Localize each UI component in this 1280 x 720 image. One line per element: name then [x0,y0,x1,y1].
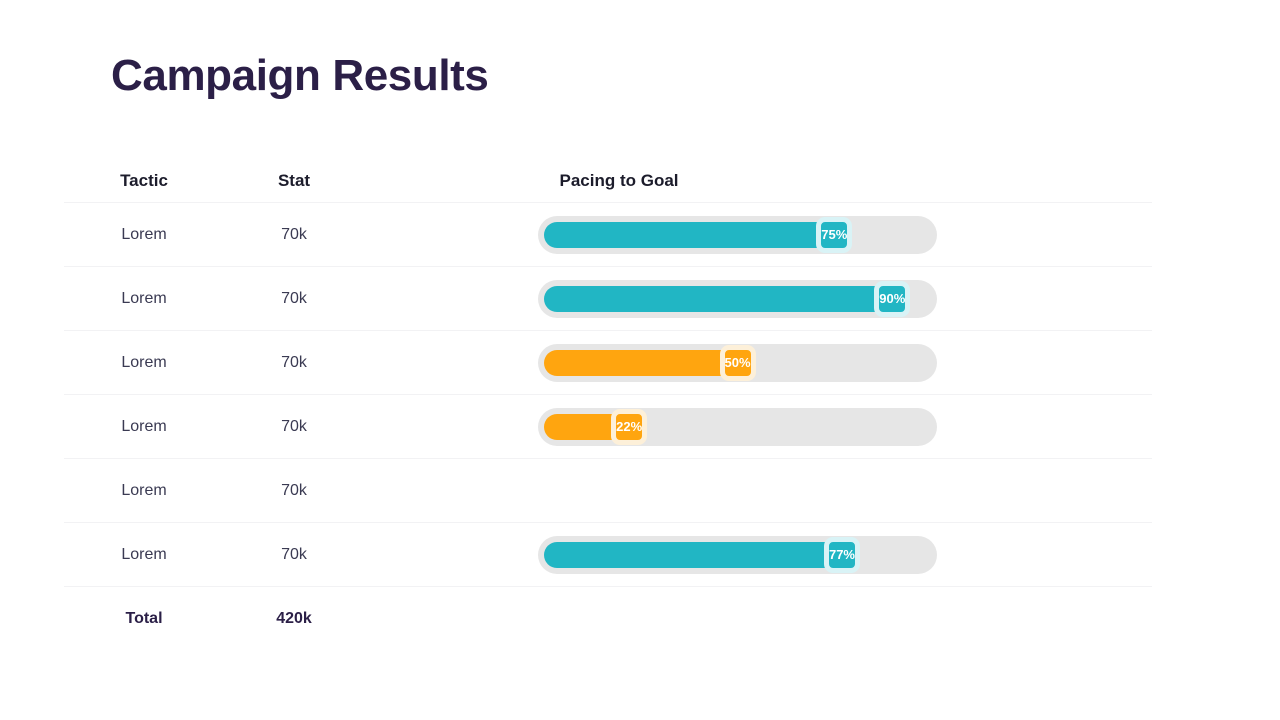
total-label: Total [64,610,224,628]
progress-bar[interactable]: 50% [538,344,937,382]
progress-bar[interactable]: 22% [538,408,937,446]
cell-pacing: 50% [364,331,1152,394]
cell-pacing: 22% [364,395,1152,458]
progress-bar-fill [544,542,842,568]
table-header-row: Tactic Stat Pacing to Goal [64,160,1152,202]
progress-percent-badge: 75% [816,217,852,253]
cell-tactic: Lorem [64,290,224,308]
progress-percent-badge: 50% [720,345,756,381]
table-row: Lorem70k75% [64,202,1152,266]
cell-stat: 70k [224,546,364,564]
page-title: Campaign Results [111,52,488,100]
cell-pacing: 75% [364,203,1152,266]
total-pacing-cell [364,587,1152,650]
progress-percent-badge: 77% [824,537,860,573]
cell-stat: 70k [224,226,364,244]
progress-bar[interactable]: 90% [538,280,937,318]
column-header-tactic: Tactic [64,171,224,191]
progress-percent-badge: 22% [611,409,647,445]
cell-stat: 70k [224,418,364,436]
column-header-pacing-cell: Pacing to Goal [364,160,1152,202]
cell-pacing [364,459,1152,522]
slide-canvas: Campaign Results Tactic Stat Pacing to G… [0,0,1280,720]
table-row: Lorem70k77% [64,522,1152,586]
cell-stat: 70k [224,290,364,308]
progress-percent-badge: 90% [874,281,910,317]
cell-pacing: 77% [364,523,1152,586]
cell-stat: 70k [224,482,364,500]
table-row: Lorem70k50% [64,330,1152,394]
column-header-pacing: Pacing to Goal [219,171,1019,191]
table-row: Lorem70k90% [64,266,1152,330]
cell-pacing: 90% [364,267,1152,330]
cell-tactic: Lorem [64,546,224,564]
cell-stat: 70k [224,354,364,372]
total-stat: 420k [224,610,364,628]
progress-bar-fill [544,350,738,376]
progress-bar[interactable]: 77% [538,536,937,574]
progress-bar-fill [544,286,892,312]
table-total-row: Total 420k [64,586,1152,650]
table-body: Lorem70k75%Lorem70k90%Lorem70k50%Lorem70… [64,202,1152,586]
cell-tactic: Lorem [64,226,224,244]
cell-tactic: Lorem [64,482,224,500]
table-row: Lorem70k22% [64,394,1152,458]
results-table: Tactic Stat Pacing to Goal Lorem70k75%Lo… [64,160,1152,650]
table-row: Lorem70k [64,458,1152,522]
cell-tactic: Lorem [64,418,224,436]
progress-bar[interactable]: 75% [538,216,937,254]
cell-tactic: Lorem [64,354,224,372]
progress-bar-fill [544,222,834,248]
